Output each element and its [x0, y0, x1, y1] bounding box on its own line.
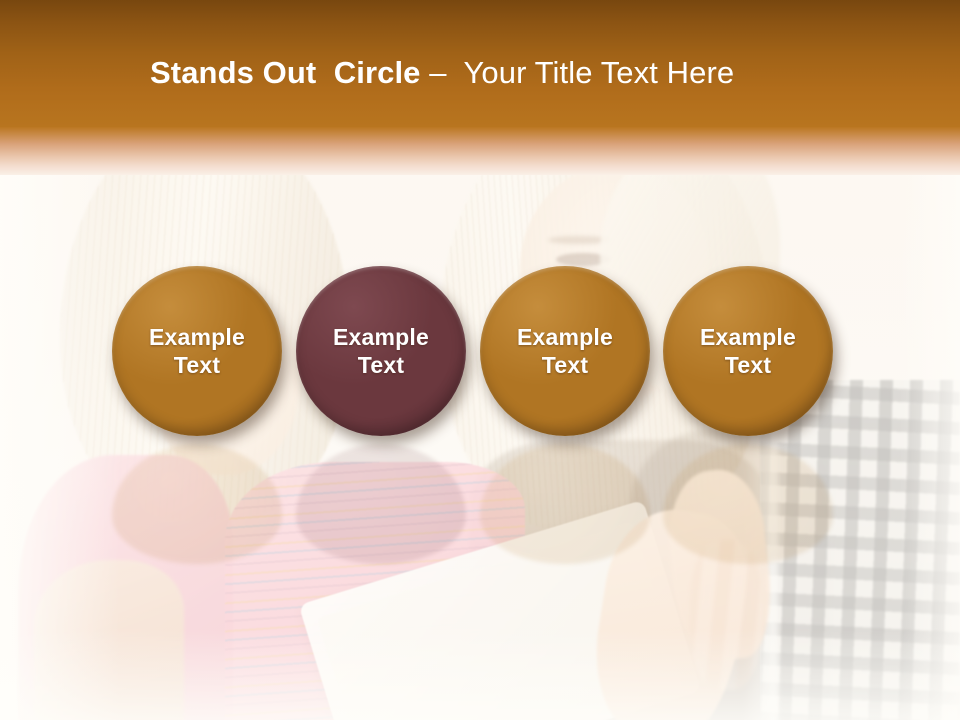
circle-label-3: Example Text	[517, 323, 613, 379]
circle-label-1: Example Text	[149, 323, 245, 379]
slide-canvas: Stands Out Circle – Your Title Text Here…	[0, 0, 960, 720]
circle-item-4[interactable]: Example Text	[663, 266, 833, 436]
circle-label-2-line1: Example	[333, 323, 429, 351]
circle-shape-1[interactable]: Example Text	[112, 266, 282, 436]
circle-label-2-line2: Text	[333, 351, 429, 379]
circle-item-1[interactable]: Example Text	[112, 266, 282, 436]
circle-label-3-line1: Example	[517, 323, 613, 351]
circle-label-3-line2: Text	[517, 351, 613, 379]
circle-reflection-4	[663, 444, 833, 564]
circle-shape-4[interactable]: Example Text	[663, 266, 833, 436]
circle-label-1-line1: Example	[149, 323, 245, 351]
circle-label-4: Example Text	[700, 323, 796, 379]
circle-reflection-2	[296, 444, 466, 564]
circle-shape-2-highlighted[interactable]: Example Text	[296, 266, 466, 436]
circle-reflection-1	[112, 444, 282, 564]
circle-label-4-line1: Example	[700, 323, 796, 351]
circle-shape-3[interactable]: Example Text	[480, 266, 650, 436]
circle-group: Example Text Example Text Example Text	[0, 0, 960, 720]
circle-label-2: Example Text	[333, 323, 429, 379]
circle-label-1-line2: Text	[149, 351, 245, 379]
circle-item-3[interactable]: Example Text	[480, 266, 650, 436]
circle-reflection-3	[480, 444, 650, 564]
circle-item-2[interactable]: Example Text	[296, 266, 466, 436]
circle-label-4-line2: Text	[700, 351, 796, 379]
